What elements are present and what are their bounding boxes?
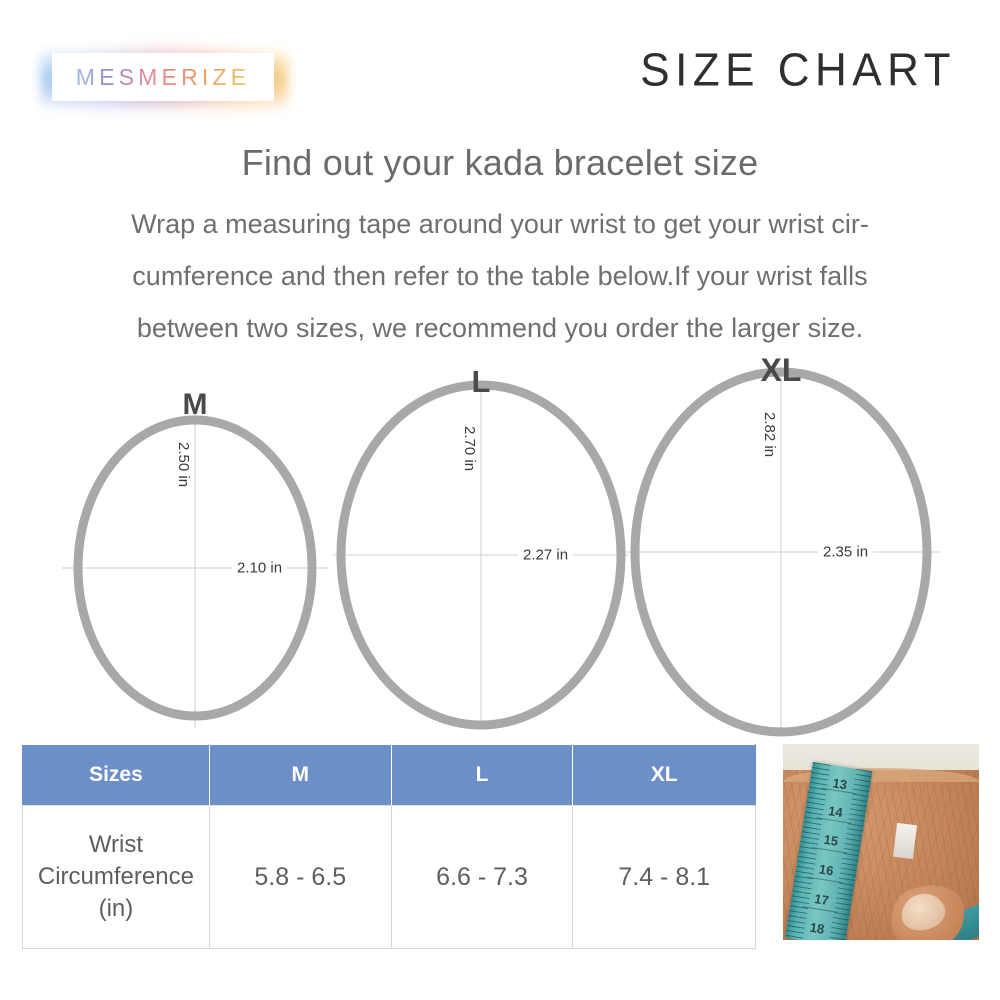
intro-line-2: cumference and then refer to the table b… bbox=[44, 250, 956, 302]
table-row: Wrist Circumference (in) 5.8 - 6.5 6.6 -… bbox=[23, 806, 756, 949]
page-title: SIZE CHART bbox=[640, 44, 956, 97]
row-label-line-1: Wrist bbox=[24, 829, 208, 861]
table-header-row: Sizes M L XL bbox=[23, 745, 756, 806]
logo-text: MESMERIZE bbox=[52, 53, 274, 101]
oval-label-xl: XL bbox=[761, 352, 802, 389]
size-chart-page: MESMERIZE SIZE CHART Find out your kada … bbox=[0, 0, 1000, 1000]
oval-height-l: 2.70 in bbox=[461, 422, 478, 475]
intro-paragraph: Wrap a measuring tape around your wrist … bbox=[44, 198, 956, 354]
cell-wrist-xl: 7.4 - 8.1 bbox=[573, 806, 756, 949]
header-xl: XL bbox=[573, 745, 756, 806]
cell-wrist-l: 6.6 - 7.3 bbox=[391, 806, 573, 949]
wrist-measurement-photo: 13 14 15 16 17 18 bbox=[783, 744, 979, 940]
intro-line-1: Wrap a measuring tape around your wrist … bbox=[44, 198, 956, 250]
size-table: Sizes M L XL Wrist Circumference (in) 5.… bbox=[22, 744, 756, 949]
oval-label-m: M bbox=[183, 388, 208, 422]
oval-width-xl: 2.35 in bbox=[818, 544, 873, 561]
brand-logo: MESMERIZE bbox=[40, 42, 288, 114]
intro-line-3: between two sizes, we recommend you orde… bbox=[44, 302, 956, 354]
oval-width-m: 2.10 in bbox=[232, 560, 287, 577]
header-m: M bbox=[209, 745, 391, 806]
row-label-line-3: (in) bbox=[24, 893, 208, 925]
subtitle: Find out your kada bracelet size bbox=[0, 142, 1000, 184]
cell-wrist-m: 5.8 - 6.5 bbox=[209, 806, 391, 949]
bracelet-size-diagrams: M L XL 2.10 in 2.27 in 2.35 in 2.50 in 2… bbox=[0, 360, 1000, 740]
photo-tape-clip bbox=[893, 823, 917, 859]
oval-height-m: 2.50 in bbox=[175, 438, 192, 491]
row-label-line-2: Circumference bbox=[24, 861, 208, 893]
oval-width-l: 2.27 in bbox=[518, 547, 573, 564]
oval-label-l: L bbox=[472, 364, 491, 400]
oval-height-xl: 2.82 in bbox=[761, 408, 778, 461]
header-sizes: Sizes bbox=[23, 745, 210, 806]
row-label-wrist-circumference: Wrist Circumference (in) bbox=[23, 806, 210, 949]
header-l: L bbox=[391, 745, 573, 806]
